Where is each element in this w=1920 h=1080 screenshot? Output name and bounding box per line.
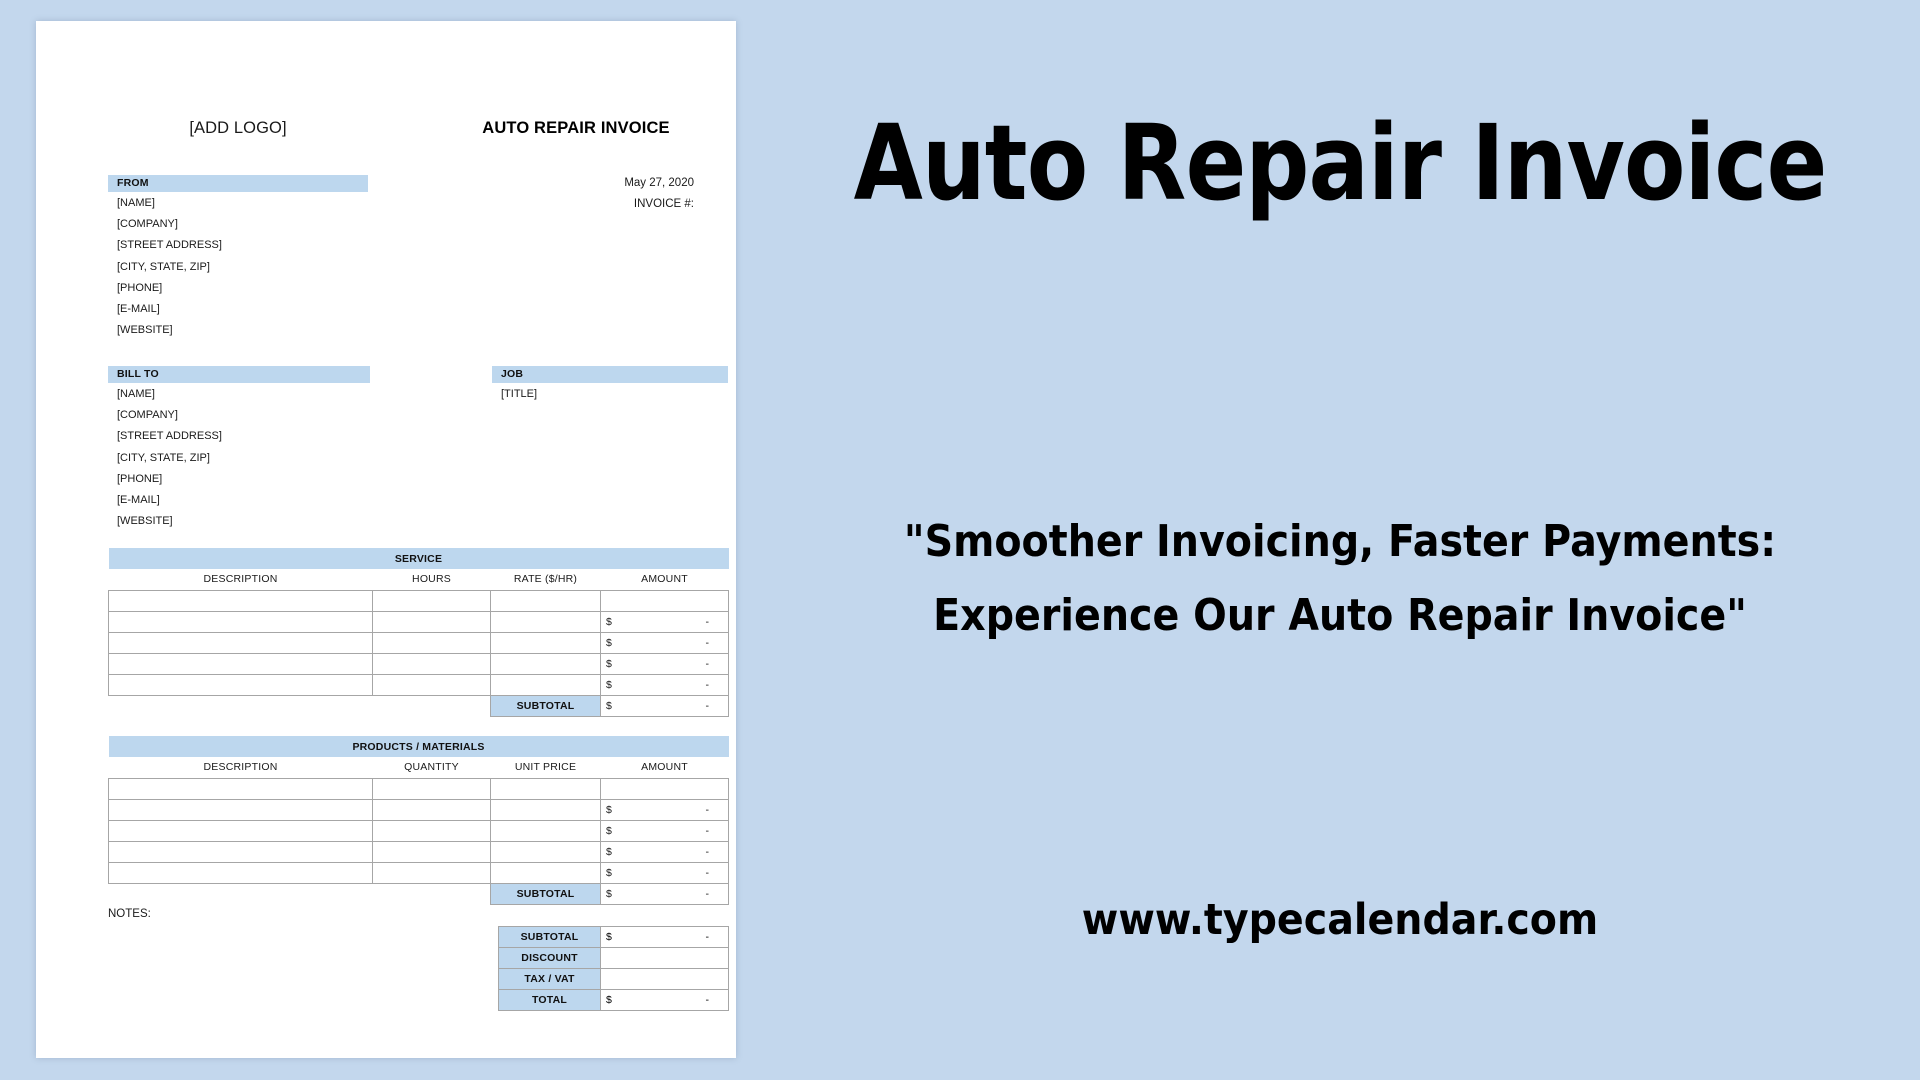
service-cell-rate[interactable] bbox=[491, 611, 601, 632]
bill-to-line-phone[interactable]: [PHONE] bbox=[108, 469, 408, 490]
service-col-rate: RATE ($/HR) bbox=[491, 569, 601, 590]
products-column-header-row: DESCRIPTION QUANTITY UNIT PRICE AMOUNT bbox=[109, 757, 729, 778]
products-row: $ - bbox=[109, 841, 729, 862]
screenshot-root: [ADD LOGO] AUTO REPAIR INVOICE May 27, 2… bbox=[0, 0, 1920, 1080]
products-col-quantity: QUANTITY bbox=[373, 757, 491, 778]
products-subtotal-row: SUBTOTAL $ - bbox=[109, 883, 729, 904]
job-line-title[interactable]: [TITLE] bbox=[492, 384, 732, 405]
totals-row: SUBTOTAL $ - bbox=[499, 927, 729, 948]
service-cell-rate[interactable] bbox=[491, 674, 601, 695]
service-section-title: SERVICE bbox=[109, 548, 729, 569]
bill-to-line-email[interactable]: [E-MAIL] bbox=[108, 490, 408, 511]
products-amount-currency: $ bbox=[606, 867, 612, 879]
service-subtotal-amount[interactable]: $ - bbox=[601, 695, 729, 716]
service-amount-currency: $ bbox=[606, 616, 612, 628]
service-cell-hours[interactable] bbox=[373, 611, 491, 632]
totals-amount-subtotal: - bbox=[706, 931, 710, 943]
totals-value-total[interactable]: $ - bbox=[601, 990, 729, 1011]
products-amount-currency: $ bbox=[606, 846, 612, 858]
service-cell-amount[interactable]: $ - bbox=[601, 611, 729, 632]
totals-label-discount: DISCOUNT bbox=[499, 948, 601, 969]
totals-value-tax[interactable] bbox=[601, 969, 729, 990]
totals-value-subtotal[interactable]: $ - bbox=[601, 927, 729, 948]
from-address-block: [NAME] [COMPANY] [STREET ADDRESS] [CITY,… bbox=[108, 193, 408, 341]
service-cell-hours[interactable] bbox=[373, 674, 491, 695]
from-line-company[interactable]: [COMPANY] bbox=[108, 214, 408, 235]
products-cell-quantity[interactable] bbox=[373, 862, 491, 883]
invoice-header: [ADD LOGO] AUTO REPAIR INVOICE bbox=[36, 119, 736, 145]
service-amount-value: - bbox=[706, 679, 710, 691]
job-block: [TITLE] bbox=[492, 384, 732, 405]
products-section-title: PRODUCTS / MATERIALS bbox=[109, 736, 729, 757]
products-table: PRODUCTS / MATERIALS DESCRIPTION QUANTIT… bbox=[108, 736, 729, 905]
service-row: $ - bbox=[109, 611, 729, 632]
promo-tagline: "Smoother Invoicing, Faster Payments: Ex… bbox=[818, 505, 1862, 653]
products-cell-amount[interactable]: $ - bbox=[601, 862, 729, 883]
products-cell-unit-price[interactable] bbox=[491, 841, 601, 862]
bill-to-line-street[interactable]: [STREET ADDRESS] bbox=[108, 426, 408, 447]
service-cell-description[interactable] bbox=[109, 590, 373, 611]
service-cell-rate[interactable] bbox=[491, 590, 601, 611]
service-row bbox=[109, 590, 729, 611]
job-section-heading: JOB bbox=[492, 366, 728, 383]
bill-to-section-heading: BILL TO bbox=[108, 366, 370, 383]
from-line-city[interactable]: [CITY, STATE, ZIP] bbox=[108, 257, 408, 278]
products-amount-value: - bbox=[706, 867, 710, 879]
service-section-bar-row: SERVICE bbox=[109, 548, 729, 569]
products-col-unit-price: UNIT PRICE bbox=[491, 757, 601, 778]
service-col-hours: HOURS bbox=[373, 569, 491, 590]
products-amount-currency: $ bbox=[606, 804, 612, 816]
products-amount-currency: $ bbox=[606, 825, 612, 837]
service-col-amount: AMOUNT bbox=[601, 569, 729, 590]
service-amount-currency: $ bbox=[606, 637, 612, 649]
products-subtotal-currency: $ bbox=[606, 888, 612, 900]
bill-to-line-website[interactable]: [WEBSITE] bbox=[108, 511, 408, 532]
products-cell-unit-price[interactable] bbox=[491, 799, 601, 820]
products-cell-unit-price[interactable] bbox=[491, 820, 601, 841]
service-cell-description[interactable] bbox=[109, 611, 373, 632]
service-cell-description[interactable] bbox=[109, 632, 373, 653]
totals-currency-subtotal: $ bbox=[606, 931, 612, 943]
products-subtotal-amount[interactable]: $ - bbox=[601, 883, 729, 904]
products-row bbox=[109, 778, 729, 799]
promo-tagline-line1: "Smoother Invoicing, Faster Payments: bbox=[818, 505, 1862, 579]
service-amount-value: - bbox=[706, 616, 710, 628]
service-subtotal-currency: $ bbox=[606, 700, 612, 712]
products-cell-quantity[interactable] bbox=[373, 820, 491, 841]
products-cell-unit-price[interactable] bbox=[491, 862, 601, 883]
service-subtotal-row: SUBTOTAL $ - bbox=[109, 695, 729, 716]
from-line-website[interactable]: [WEBSITE] bbox=[108, 320, 408, 341]
invoice-paper: [ADD LOGO] AUTO REPAIR INVOICE May 27, 2… bbox=[36, 21, 736, 1058]
from-line-street[interactable]: [STREET ADDRESS] bbox=[108, 235, 408, 256]
products-cell-amount[interactable]: $ - bbox=[601, 841, 729, 862]
totals-label-tax: TAX / VAT bbox=[499, 969, 601, 990]
invoice-meta: May 27, 2020 INVOICE #: bbox=[496, 173, 736, 215]
service-amount-value: - bbox=[706, 637, 710, 649]
products-cell-description[interactable] bbox=[109, 820, 373, 841]
service-subtotal-value: - bbox=[706, 700, 710, 712]
totals-row: TAX / VAT bbox=[499, 969, 729, 990]
bill-to-line-name[interactable]: [NAME] bbox=[108, 384, 408, 405]
products-cell-amount[interactable]: $ - bbox=[601, 799, 729, 820]
service-amount-currency: $ bbox=[606, 658, 612, 670]
totals-label-total: TOTAL bbox=[499, 990, 601, 1011]
products-subtotal-label: SUBTOTAL bbox=[491, 883, 601, 904]
service-table: SERVICE DESCRIPTION HOURS RATE ($/HR) AM… bbox=[108, 548, 729, 717]
promo-title: Auto Repair Invoice bbox=[841, 108, 1839, 218]
service-cell-description[interactable] bbox=[109, 653, 373, 674]
service-amount-value: - bbox=[706, 658, 710, 670]
products-col-description: DESCRIPTION bbox=[109, 757, 373, 778]
from-line-email[interactable]: [E-MAIL] bbox=[108, 299, 408, 320]
service-row: $ - bbox=[109, 653, 729, 674]
products-cell-unit-price[interactable] bbox=[491, 778, 601, 799]
service-subtotal-label: SUBTOTAL bbox=[491, 695, 601, 716]
invoice-date[interactable]: May 27, 2020 bbox=[496, 173, 694, 194]
invoice-number-label[interactable]: INVOICE #: bbox=[496, 194, 694, 215]
products-cell-quantity[interactable] bbox=[373, 799, 491, 820]
service-cell-amount[interactable]: $ - bbox=[601, 674, 729, 695]
service-cell-amount[interactable]: $ - bbox=[601, 632, 729, 653]
service-column-header-row: DESCRIPTION HOURS RATE ($/HR) AMOUNT bbox=[109, 569, 729, 590]
products-cell-description[interactable] bbox=[109, 841, 373, 862]
service-cell-rate[interactable] bbox=[491, 632, 601, 653]
invoice-sheet: [ADD LOGO] AUTO REPAIR INVOICE May 27, 2… bbox=[36, 21, 736, 1058]
bill-to-line-city[interactable]: [CITY, STATE, ZIP] bbox=[108, 448, 408, 469]
from-line-name[interactable]: [NAME] bbox=[108, 193, 408, 214]
totals-amount-total: - bbox=[706, 994, 710, 1006]
products-cell-quantity[interactable] bbox=[373, 778, 491, 799]
totals-row: TOTAL $ - bbox=[499, 990, 729, 1011]
service-cell-amount[interactable] bbox=[601, 590, 729, 611]
totals-label-subtotal: SUBTOTAL bbox=[499, 927, 601, 948]
totals-value-discount[interactable] bbox=[601, 948, 729, 969]
products-section-bar-row: PRODUCTS / MATERIALS bbox=[109, 736, 729, 757]
products-amount-value: - bbox=[706, 825, 710, 837]
service-row: $ - bbox=[109, 674, 729, 695]
products-cell-description[interactable] bbox=[109, 778, 373, 799]
notes-label: NOTES: bbox=[108, 908, 151, 920]
products-cell-description[interactable] bbox=[109, 799, 373, 820]
service-col-description: DESCRIPTION bbox=[109, 569, 373, 590]
products-row: $ - bbox=[109, 820, 729, 841]
totals-currency-total: $ bbox=[606, 994, 612, 1006]
service-row: $ - bbox=[109, 632, 729, 653]
service-cell-description[interactable] bbox=[109, 674, 373, 695]
products-amount-value: - bbox=[706, 804, 710, 816]
products-cell-description[interactable] bbox=[109, 862, 373, 883]
service-cell-rate[interactable] bbox=[491, 653, 601, 674]
products-cell-quantity[interactable] bbox=[373, 841, 491, 862]
promo-tagline-line2: Experience Our Auto Repair Invoice" bbox=[818, 579, 1862, 653]
logo-placeholder[interactable]: [ADD LOGO] bbox=[108, 119, 368, 138]
products-col-amount: AMOUNT bbox=[601, 757, 729, 778]
promo-panel: Auto Repair Invoice "Smoother Invoicing,… bbox=[760, 0, 1920, 1080]
products-subtotal-value: - bbox=[706, 888, 710, 900]
service-cell-hours[interactable] bbox=[373, 653, 491, 674]
products-amount-value: - bbox=[706, 846, 710, 858]
service-cell-amount[interactable]: $ - bbox=[601, 653, 729, 674]
totals-table: SUBTOTAL $ - DISCOUNT TAX / VAT bbox=[498, 926, 729, 1011]
products-row: $ - bbox=[109, 862, 729, 883]
totals-row: DISCOUNT bbox=[499, 948, 729, 969]
invoice-title: AUTO REPAIR INVOICE bbox=[436, 119, 716, 138]
service-cell-hours[interactable] bbox=[373, 590, 491, 611]
products-cell-amount[interactable] bbox=[601, 778, 729, 799]
products-row: $ - bbox=[109, 799, 729, 820]
from-line-phone[interactable]: [PHONE] bbox=[108, 278, 408, 299]
products-cell-amount[interactable]: $ - bbox=[601, 820, 729, 841]
bill-to-address-block: [NAME] [COMPANY] [STREET ADDRESS] [CITY,… bbox=[108, 384, 408, 532]
from-section-heading: FROM bbox=[108, 175, 368, 192]
service-cell-hours[interactable] bbox=[373, 632, 491, 653]
service-amount-currency: $ bbox=[606, 679, 612, 691]
promo-url[interactable]: www.typecalendar.com bbox=[806, 895, 1873, 945]
bill-to-line-company[interactable]: [COMPANY] bbox=[108, 405, 408, 426]
